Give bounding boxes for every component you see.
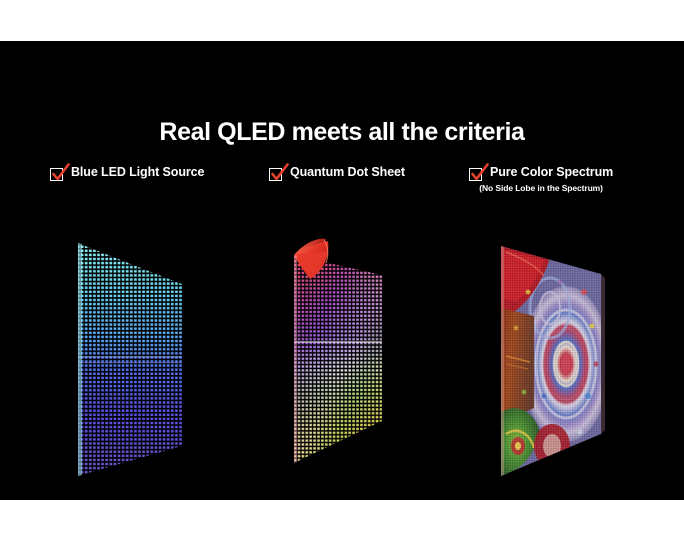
page-title: Real QLED meets all the criteria — [0, 118, 684, 147]
video-frame: Real QLED meets all the criteria Blue LE… — [0, 41, 684, 500]
column-sublabel: (No Side Lobe in the Spectrum) — [479, 183, 603, 193]
column-label: Blue LED Light Source — [71, 165, 204, 179]
screenshot-root: Real QLED meets all the criteria Blue LE… — [0, 0, 684, 547]
checkbox-checked-icon — [50, 167, 65, 182]
column-heading-quantum-dot: Quantum Dot Sheet — [269, 165, 405, 182]
column-label: Quantum Dot Sheet — [290, 165, 405, 179]
column-label: Pure Color Spectrum — [490, 165, 613, 179]
blue-led-panel — [60, 196, 220, 486]
checkbox-checked-icon — [469, 167, 484, 182]
pure-color-spectrum-panel — [488, 196, 618, 486]
column-heading-blue-led: Blue LED Light Source — [50, 165, 204, 182]
column-heading-pure-color: Pure Color Spectrum (No Side Lobe in the… — [469, 165, 613, 193]
checkbox-checked-icon — [269, 167, 284, 182]
quantum-dot-sheet-panel — [278, 213, 408, 483]
